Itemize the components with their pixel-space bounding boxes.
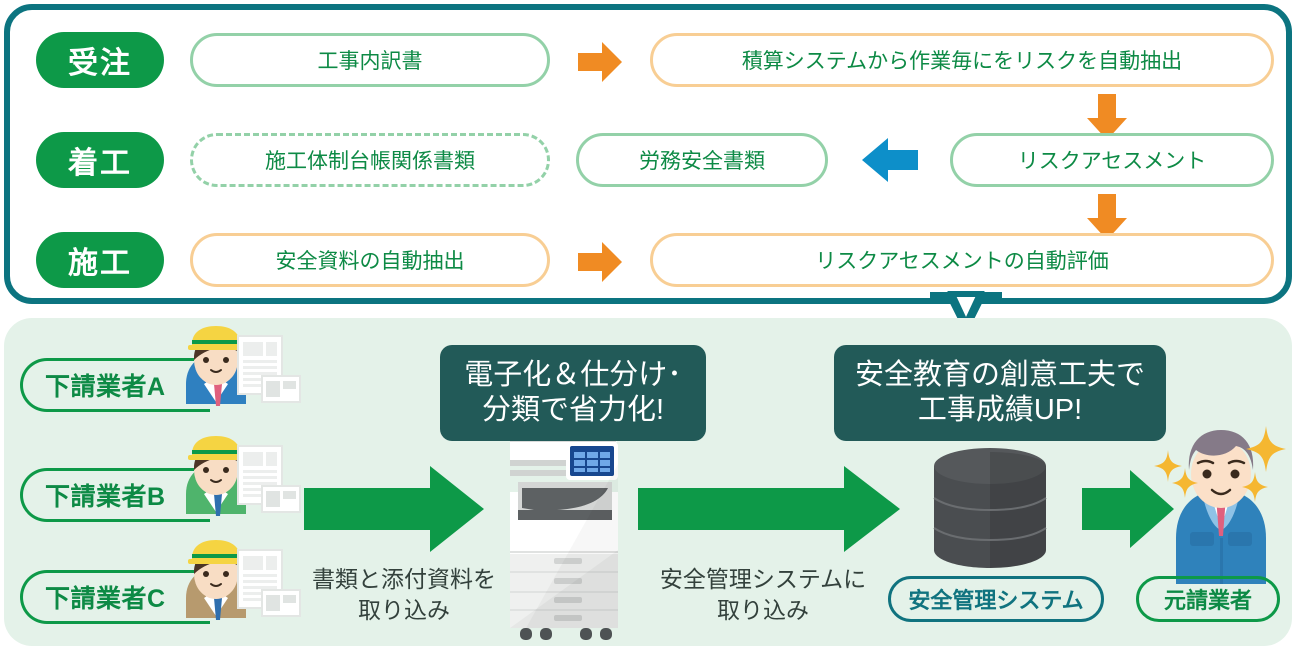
caption-import-documents: 書類と添付資料を 取り込み xyxy=(304,564,504,626)
box-row3-right[interactable]: リスクアセスメントの自動評価 xyxy=(650,233,1274,287)
box-row2-right[interactable]: リスクアセスメント xyxy=(950,133,1274,187)
arrow-right-orange-row1 xyxy=(578,42,622,82)
arrow-left-blue-row2 xyxy=(862,138,918,182)
callout-digitization: 電子化＆仕分け･ 分類で省力化! xyxy=(440,345,706,441)
box-row1-right[interactable]: 積算システムから作業毎にをリスクを自動抽出 xyxy=(650,33,1274,87)
tag-safety-management-system[interactable]: 安全管理システム xyxy=(888,576,1104,622)
caption-1-line2: 取り込み xyxy=(304,595,504,626)
box-row1-left[interactable]: 工事内訳書 xyxy=(190,33,550,87)
caption-2-line1: 安全管理システムに xyxy=(638,564,888,595)
callout-1-line2: 分類で省力化! xyxy=(482,393,664,428)
arrow-right-green-2 xyxy=(638,466,900,552)
subcontractor-label-a: 下請業者A xyxy=(23,367,166,403)
diagram-root: 受注 工事内訳書 積算システムから作業毎にをリスクを自動抽出 着工 施工体制台帳… xyxy=(0,0,1300,650)
top-panel: 受注 工事内訳書 積算システムから作業毎にをリスクを自動抽出 着工 施工体制台帳… xyxy=(4,4,1292,304)
arrow-right-green-1 xyxy=(304,466,484,552)
document-icon-c xyxy=(238,550,300,622)
subcontractor-label-c: 下請業者C xyxy=(23,579,166,615)
caption-import-to-system: 安全管理システムに 取り込み xyxy=(638,564,888,626)
box-row3-left[interactable]: 安全資料の自動抽出 xyxy=(190,233,550,287)
phase-badge-row3: 施工 xyxy=(36,232,164,288)
arrow-right-orange-row3 xyxy=(578,242,622,282)
callout-1-line1: 電子化＆仕分け･ xyxy=(464,358,682,393)
subcontractor-label-b: 下請業者B xyxy=(23,477,166,513)
box-row2-mid[interactable]: 労務安全書類 xyxy=(576,133,828,187)
database-cylinder-icon xyxy=(932,446,1048,570)
callout-2-line1: 安全教育の創意工夫で xyxy=(855,358,1145,393)
happy-worker-icon xyxy=(1154,416,1288,594)
caption-1-line1: 書類と添付資料を xyxy=(304,564,504,595)
box-row2-dashed[interactable]: 施工体制台帳関係書類 xyxy=(190,133,550,187)
document-icon-a xyxy=(238,336,300,408)
callout-safety-education: 安全教育の創意工夫で 工事成績UP! xyxy=(834,345,1166,441)
caption-2-line2: 取り込み xyxy=(638,595,888,626)
tag-prime-contractor[interactable]: 元請業者 xyxy=(1136,576,1280,622)
document-icon-b xyxy=(238,446,300,518)
multifunction-printer-icon xyxy=(504,430,624,642)
phase-badge-row2: 着工 xyxy=(36,132,164,188)
phase-badge-row1: 受注 xyxy=(36,32,164,88)
callout-2-line2: 工事成績UP! xyxy=(918,393,1082,428)
